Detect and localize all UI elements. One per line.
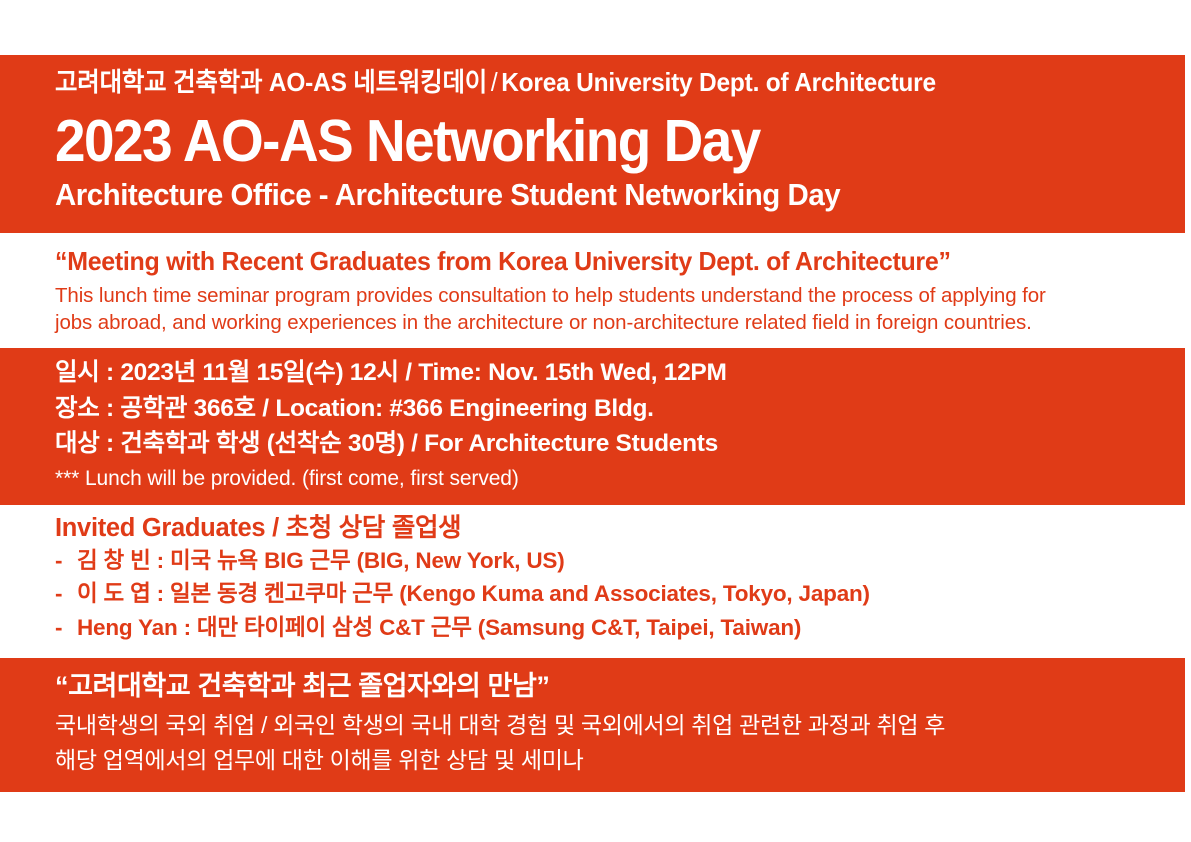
intro-body: This lunch time seminar program provides…	[55, 282, 1145, 336]
footer-body: 국내학생의 국외 취업 / 외국인 학생의 국내 대학 경험 및 국외에서의 취…	[55, 708, 1145, 777]
intro-band: “Meeting with Recent Graduates from Kore…	[0, 233, 1185, 348]
graduates-band: Invited Graduates / 초청 상담 졸업생 - 김 창 빈 : …	[0, 505, 1185, 658]
intro-quote: “Meeting with Recent Graduates from Kore…	[55, 245, 1101, 278]
header-kicker-separator: /	[487, 67, 501, 97]
graduate-entry-2: 이 도 엽 : 일본 동경 켄고쿠마 근무 (Kengo Kuma and As…	[77, 583, 870, 606]
details-band: 일시 : 2023년 11월 15일(수) 12시 / Time: Nov. 1…	[0, 348, 1185, 505]
list-item: - 이 도 엽 : 일본 동경 켄고쿠마 근무 (Kengo Kuma and …	[55, 583, 1145, 606]
bullet-dash: -	[55, 550, 77, 573]
bullet-dash: -	[55, 617, 77, 640]
graduates-heading: Invited Graduates / 초청 상담 졸업생	[55, 516, 1145, 542]
graduate-entry-3: Heng Yan : 대만 타이페이 삼성 C&T 근무 (Samsung C&…	[77, 617, 801, 640]
detail-line-time: 일시 : 2023년 11월 15일(수) 12시 / Time: Nov. 1…	[55, 361, 1145, 386]
list-item: - 김 창 빈 : 미국 뉴욕 BIG 근무 (BIG, New York, U…	[55, 550, 1145, 573]
footer-body-line-1: 국내학생의 국외 취업 / 외국인 학생의 국내 대학 경험 및 국외에서의 취…	[55, 708, 1145, 743]
detail-lunch-note: *** Lunch will be provided. (first come,…	[55, 468, 1145, 489]
poster-canvas: 고려대학교 건축학과 AO-AS 네트워킹데이/Korea University…	[0, 0, 1191, 842]
header-kicker: 고려대학교 건축학과 AO-AS 네트워킹데이/Korea University…	[55, 67, 1080, 98]
footer-body-line-2: 해당 업역에서의 업무에 대한 이해를 위한 상담 및 세미나	[55, 743, 1145, 778]
poster-subtitle: Architecture Office - Architecture Stude…	[55, 178, 1091, 212]
intro-body-line-2: jobs abroad, and working experiences in …	[55, 309, 1145, 336]
intro-body-line-1: This lunch time seminar program provides…	[55, 282, 1145, 309]
header-kicker-korean: 고려대학교 건축학과 AO-AS 네트워킹데이	[55, 67, 487, 97]
detail-line-audience: 대상 : 건축학과 학생 (선착순 30명) / For Architectur…	[55, 432, 1145, 457]
footer-band: “고려대학교 건축학과 최근 졸업자와의 만남” 국내학생의 국외 취업 / 외…	[0, 658, 1185, 792]
graduates-list: - 김 창 빈 : 미국 뉴욕 BIG 근무 (BIG, New York, U…	[55, 550, 1145, 640]
header-band: 고려대학교 건축학과 AO-AS 네트워킹데이/Korea University…	[0, 55, 1185, 233]
bullet-dash: -	[55, 583, 77, 606]
list-item: - Heng Yan : 대만 타이페이 삼성 C&T 근무 (Samsung …	[55, 617, 1145, 640]
footer-quote: “고려대학교 건축학과 최근 졸업자와의 만남”	[55, 670, 1145, 702]
graduate-entry-1: 김 창 빈 : 미국 뉴욕 BIG 근무 (BIG, New York, US)	[77, 550, 565, 573]
poster-title: 2023 AO-AS Networking Day	[55, 111, 1069, 171]
detail-line-location: 장소 : 공학관 366호 / Location: #366 Engineeri…	[55, 397, 1145, 422]
header-kicker-english: Korea University Dept. of Architecture	[501, 67, 936, 97]
